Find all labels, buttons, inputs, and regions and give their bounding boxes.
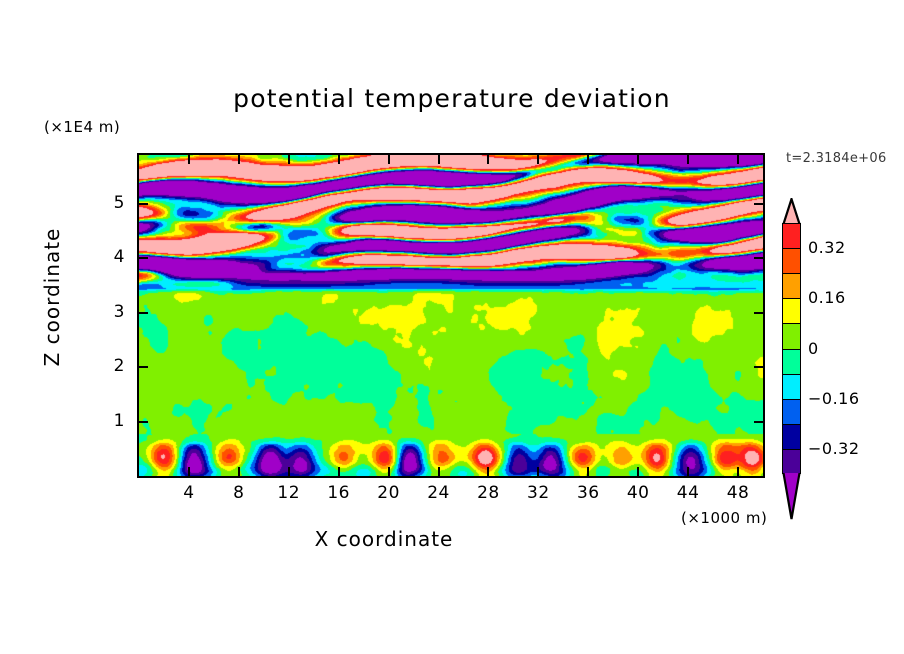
colorbar-band [782, 298, 801, 325]
x-axis-tick-label: 40 [618, 483, 658, 503]
y-axis-tick-label: 5 [101, 193, 125, 213]
y-axis-tick [754, 421, 763, 423]
y-axis-tick [139, 421, 148, 423]
colorbar-band [782, 349, 801, 376]
y-axis-tick [139, 203, 148, 205]
colorbar-band [782, 449, 801, 474]
x-axis-tick [487, 467, 489, 476]
y-axis-tick [139, 257, 148, 259]
x-axis-tick [587, 467, 589, 476]
colorbar-tick-label: 0.16 [808, 288, 846, 307]
colorbar-band [782, 374, 801, 401]
x-axis-tick [637, 467, 639, 476]
colorbar-tick-label: −0.16 [808, 389, 860, 408]
x-axis-tick [338, 155, 340, 164]
colorbar [782, 223, 801, 474]
colorbar-over-arrow [782, 198, 801, 224]
x-axis-tick [188, 155, 190, 164]
colorbar-band [782, 323, 801, 350]
x-axis-tick [238, 155, 240, 164]
x-axis-tick [687, 155, 689, 164]
x-axis-tick [388, 467, 390, 476]
colorbar-band [782, 273, 801, 300]
colorbar-band [782, 399, 801, 426]
contour-plot-area [137, 153, 765, 478]
x-axis-tick-label: 32 [518, 483, 558, 503]
y-axis-tick [139, 366, 148, 368]
y-axis-tick-label: 4 [101, 247, 125, 267]
colorbar-band [782, 223, 801, 250]
x-axis-tick [388, 155, 390, 164]
x-axis-tick [687, 467, 689, 476]
y-axis-tick [754, 257, 763, 259]
contour-field [139, 155, 763, 476]
x-axis-tick-label: 28 [468, 483, 508, 503]
x-axis-tick [537, 155, 539, 164]
x-axis-tick [737, 467, 739, 476]
colorbar-band [782, 424, 801, 451]
y-axis-unit-label: (×1E4 m) [44, 118, 120, 136]
x-axis-unit-label: (×1000 m) [681, 509, 767, 527]
y-axis-tick [754, 366, 763, 368]
x-axis-tick-label: 20 [369, 483, 409, 503]
x-axis-tick-label: 24 [419, 483, 459, 503]
y-axis-tick-label: 2 [101, 356, 125, 376]
x-axis-tick [438, 155, 440, 164]
x-axis-tick [338, 467, 340, 476]
x-axis-tick-label: 36 [568, 483, 608, 503]
y-axis-tick-label: 1 [101, 411, 125, 431]
colorbar-tick-label: 0 [808, 339, 819, 358]
y-axis-tick [139, 312, 148, 314]
x-axis-tick-label: 4 [169, 483, 209, 503]
x-axis-tick [487, 155, 489, 164]
y-axis-tick [754, 312, 763, 314]
x-axis-tick [587, 155, 589, 164]
x-axis-tick [188, 467, 190, 476]
x-axis-tick [537, 467, 539, 476]
y-axis-tick-label: 3 [101, 302, 125, 322]
x-axis-tick-label: 44 [668, 483, 708, 503]
x-axis-tick [238, 467, 240, 476]
x-axis-tick [288, 155, 290, 164]
x-axis-tick-label: 16 [319, 483, 359, 503]
x-axis-tick [288, 467, 290, 476]
y-axis-tick [754, 203, 763, 205]
colorbar-band [782, 248, 801, 275]
x-axis-tick [737, 155, 739, 164]
x-axis-tick-label: 12 [269, 483, 309, 503]
colorbar-tick-label: 0.32 [808, 238, 846, 257]
x-axis-tick-label: 48 [718, 483, 758, 503]
x-axis-tick-label: 8 [219, 483, 259, 503]
x-axis-tick [438, 467, 440, 476]
x-axis-title: X coordinate [0, 527, 768, 551]
colorbar-under-arrow [782, 473, 801, 520]
y-axis-title: Z coordinate [40, 212, 64, 382]
timestamp-annotation: t=2.3184e+06 [786, 151, 887, 166]
chart-title: potential temperature deviation [0, 84, 904, 113]
x-axis-tick [637, 155, 639, 164]
colorbar-tick-label: −0.32 [808, 439, 860, 458]
